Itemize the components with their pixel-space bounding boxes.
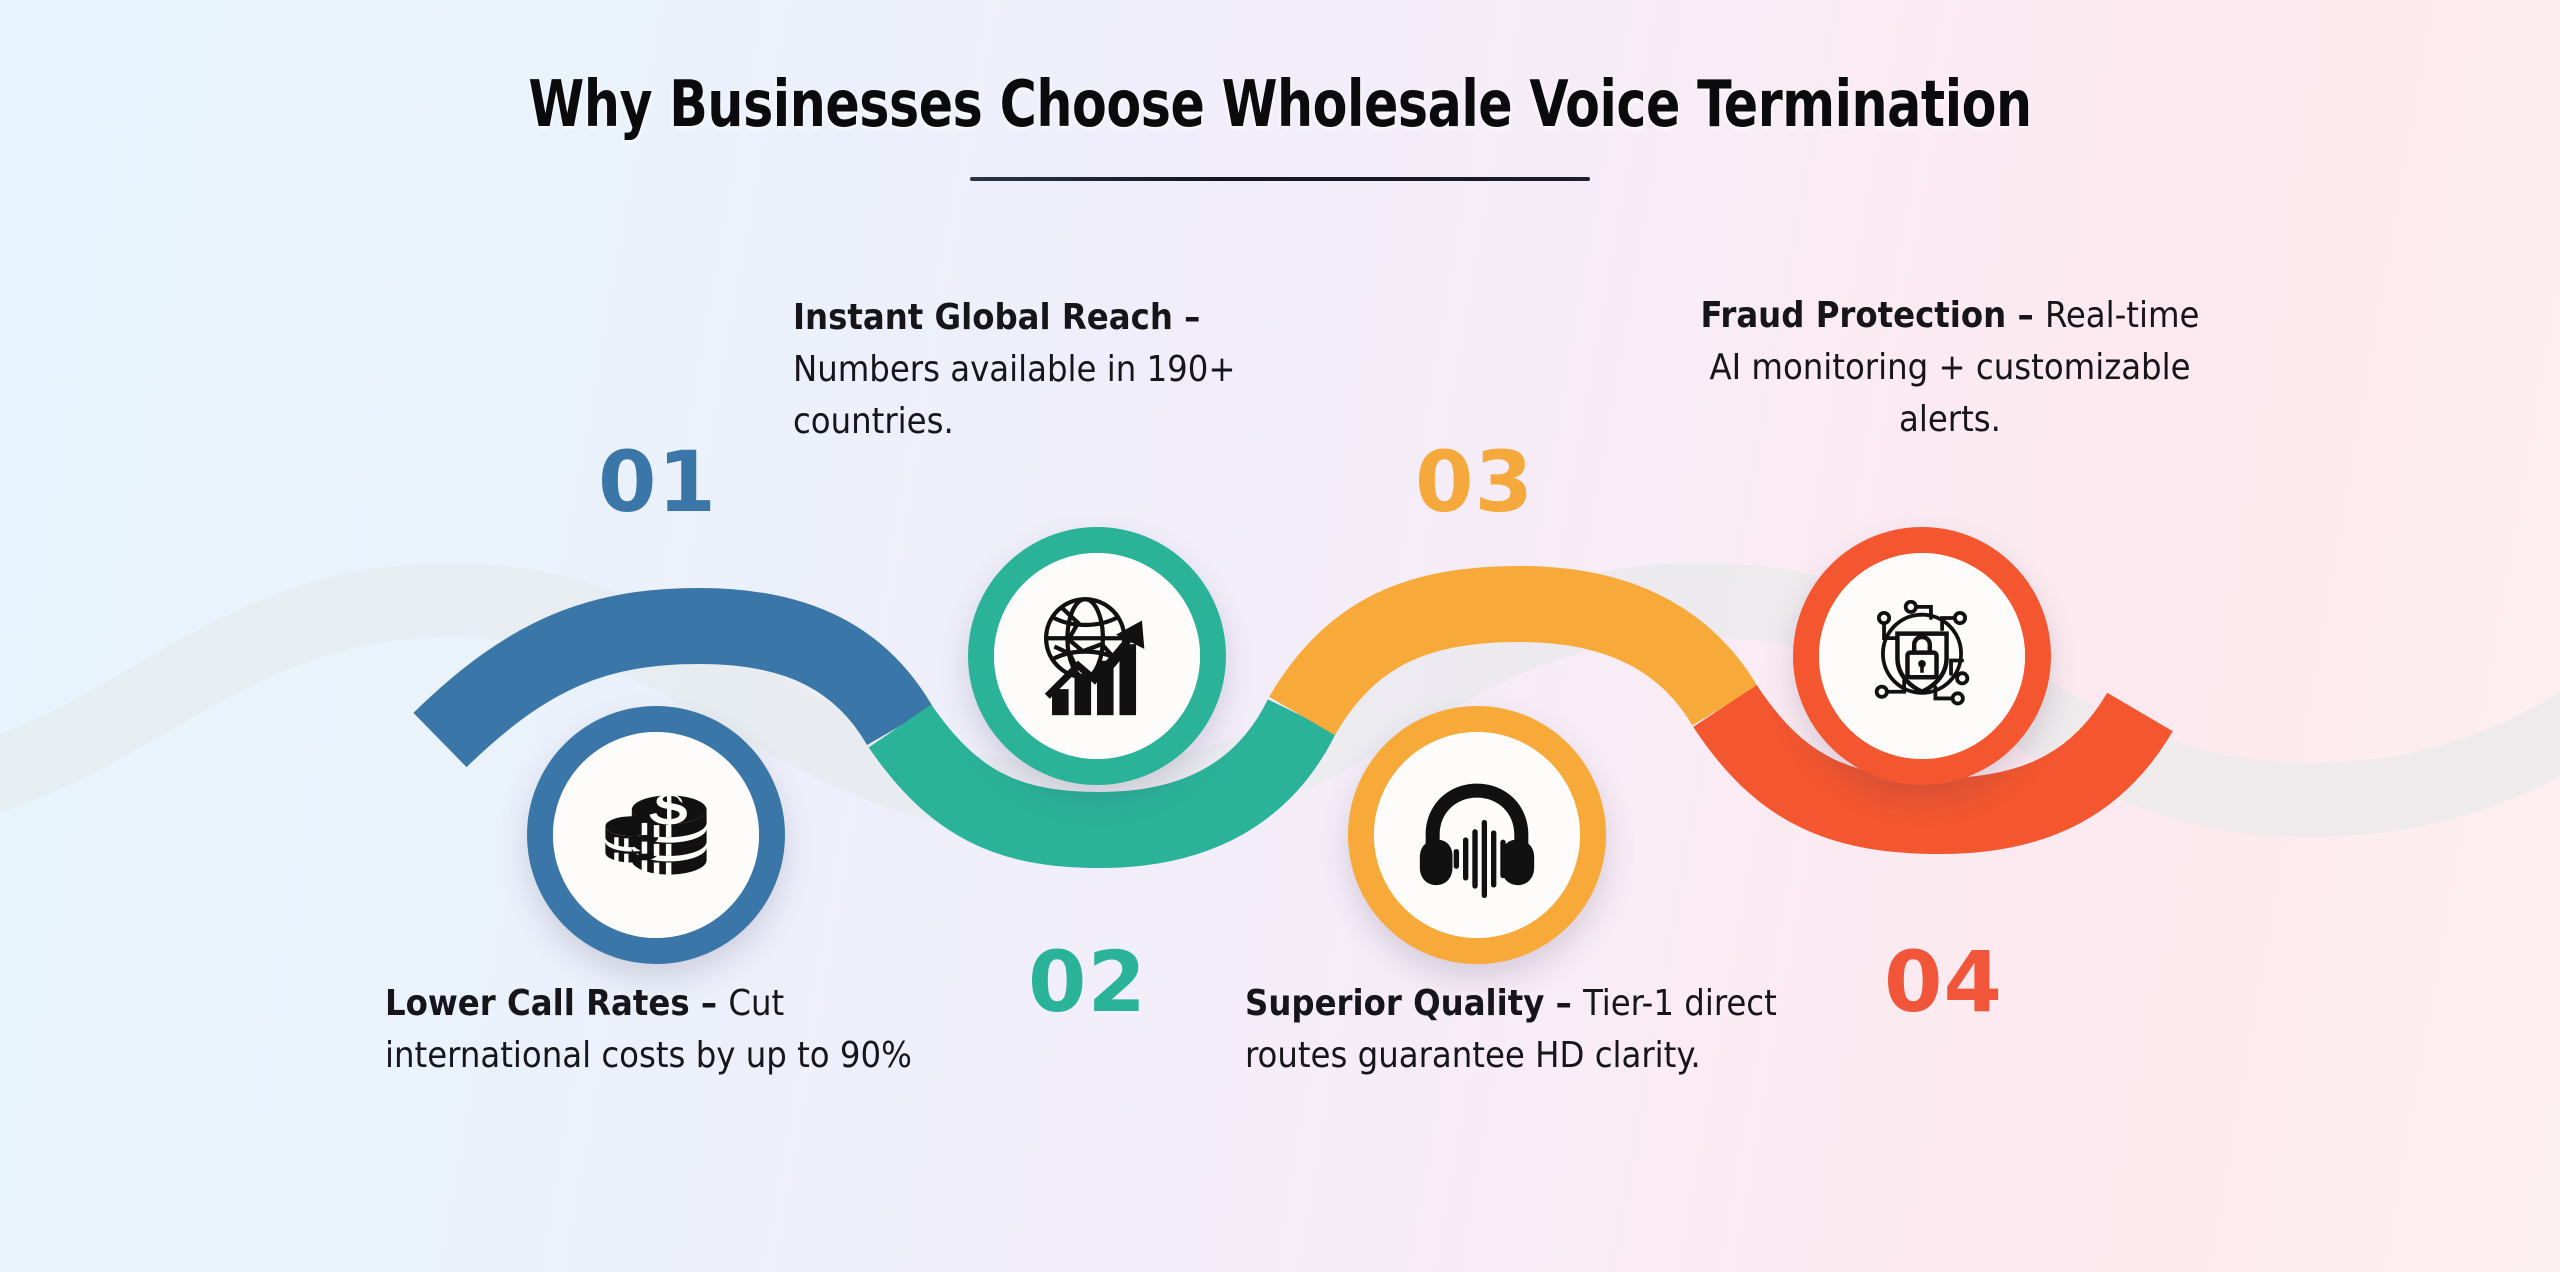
step-caption-03-lead: Superior Quality: [1245, 983, 1556, 1024]
step-node-02[interactable]: [968, 527, 1226, 785]
step-caption-02-lead: Instant Global Reach: [793, 297, 1184, 338]
step-node-03-inner: [1374, 732, 1580, 938]
title-block: Why Businesses Choose Wholesale Voice Te…: [0, 72, 2560, 181]
infographic-canvas: Why Businesses Choose Wholesale Voice Te…: [0, 0, 2560, 1272]
step-caption-03: Superior Quality – Tier-1 direct routes …: [1245, 978, 1805, 1082]
step-caption-02: Instant Global Reach – Numbers available…: [793, 292, 1353, 449]
step-caption-01-dash: –: [701, 983, 728, 1024]
step-node-04[interactable]: [1793, 527, 2051, 785]
step-caption-01-lead: Lower Call Rates: [385, 983, 701, 1024]
globe-growth-chart-icon: [1026, 585, 1168, 727]
wave-segment-3: [1302, 604, 1725, 716]
ghost-wave: [0, 600, 2560, 800]
coin-stack-dollar-icon: [590, 769, 722, 901]
step-caption-01: Lower Call Rates – Cut international cos…: [385, 978, 965, 1082]
step-number-03: 03: [1415, 440, 1534, 524]
step-caption-03-dash: –: [1556, 983, 1583, 1024]
step-node-02-inner: [994, 553, 1200, 759]
step-caption-02-dash: –: [1184, 297, 1200, 338]
step-caption-04: Fraud Protection – Real-time AI monitori…: [1690, 290, 2210, 447]
step-node-01-inner: [553, 732, 759, 938]
step-node-01[interactable]: [527, 706, 785, 964]
step-caption-04-lead: Fraud Protection: [1701, 295, 2018, 336]
step-caption-02-body: Numbers available in 190+ countries.: [793, 349, 1236, 442]
step-number-04: 04: [1884, 940, 2003, 1024]
title-divider: [970, 177, 1590, 181]
headphones-waveform-icon: [1407, 765, 1547, 905]
page-title: Why Businesses Choose Wholesale Voice Te…: [154, 72, 2407, 139]
shield-lock-circuit-icon: [1855, 589, 1989, 723]
step-number-02: 02: [1028, 940, 1147, 1024]
step-node-03[interactable]: [1348, 706, 1606, 964]
step-number-01: 01: [598, 440, 717, 524]
step-caption-04-dash: –: [2017, 295, 2044, 336]
step-node-04-inner: [1819, 553, 2025, 759]
